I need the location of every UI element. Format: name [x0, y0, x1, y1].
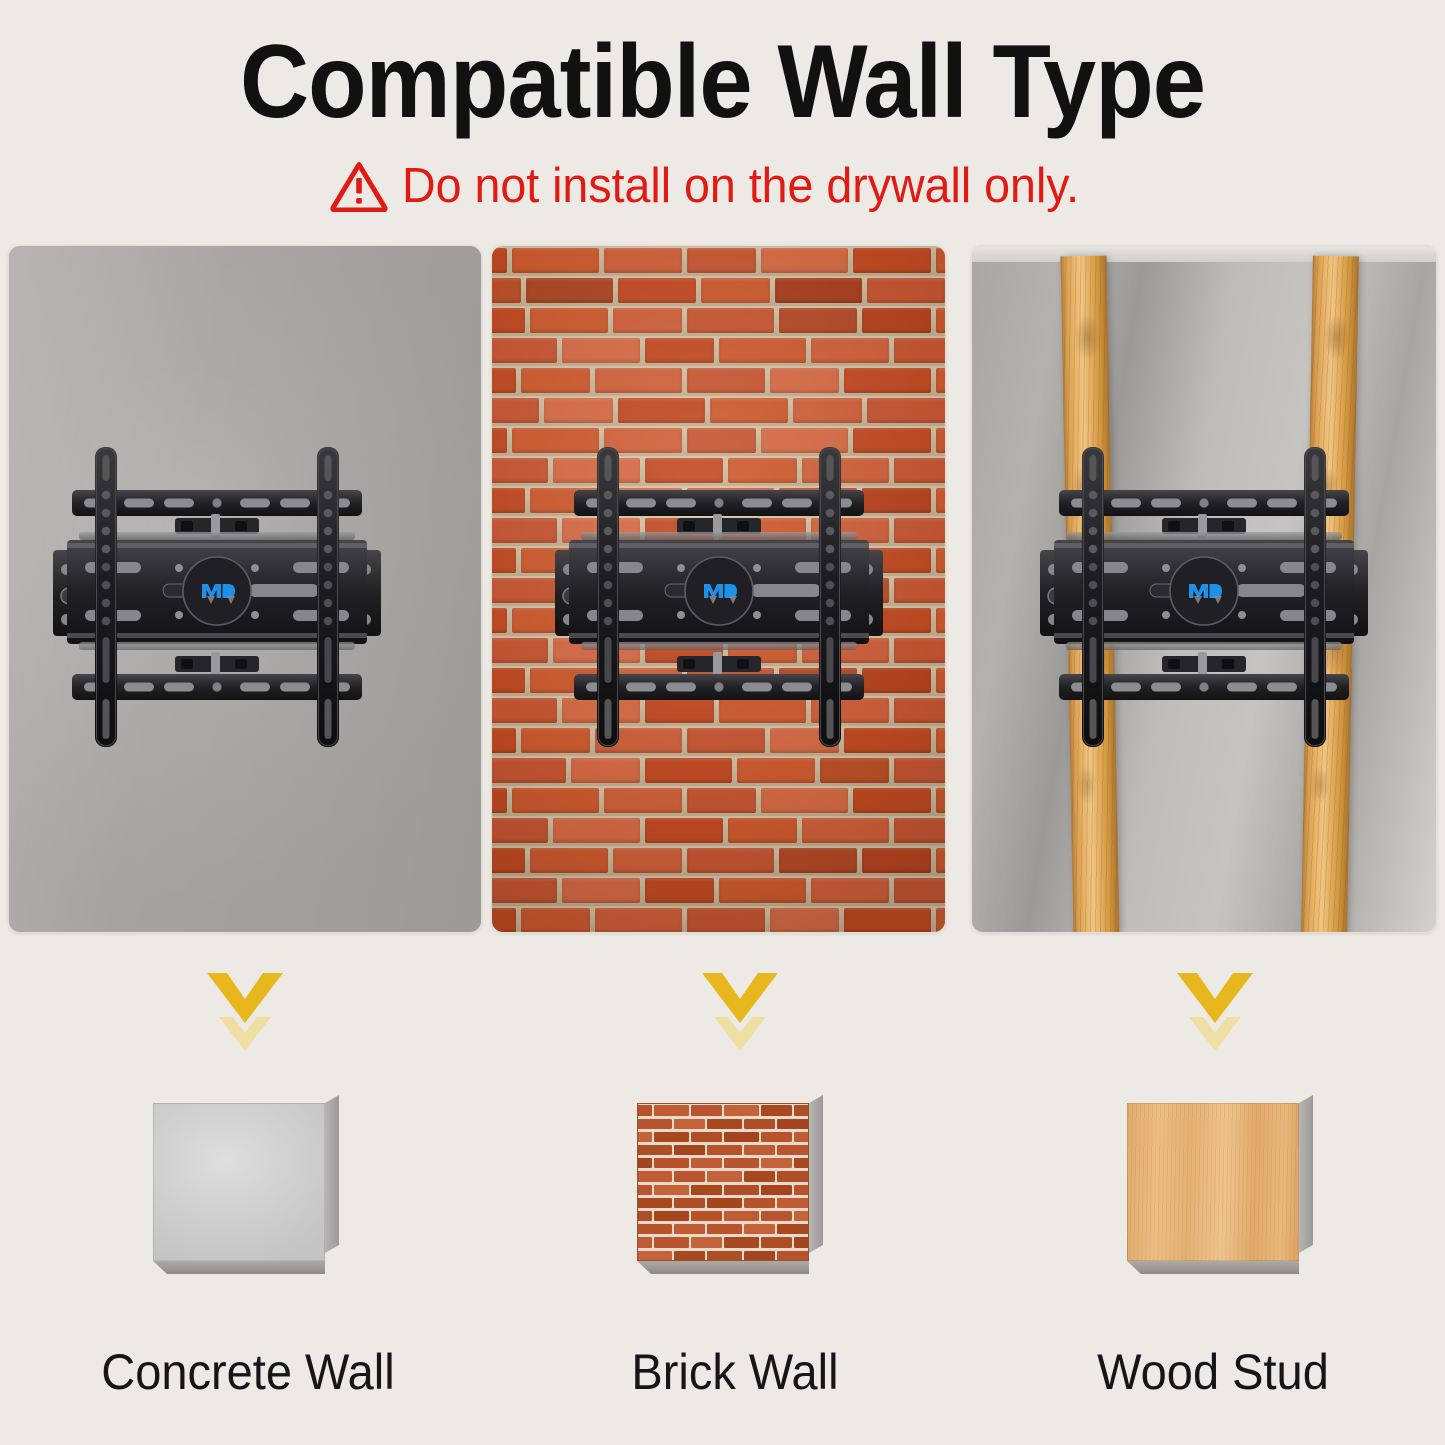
- swatch-cube: [637, 1103, 809, 1261]
- panel-brick-wall: [491, 245, 946, 933]
- label-concrete-wall: Concrete Wall: [51, 1340, 446, 1404]
- header: Compatible Wall Type Do not install on t…: [0, 0, 1445, 232]
- brick-swatch: [637, 1095, 827, 1275]
- page-title: Compatible Wall Type: [58, 26, 1387, 138]
- cube-side: [1299, 1095, 1313, 1253]
- chevron-down-icon: [1155, 955, 1275, 1055]
- tv-mount-bracket-wood: [1046, 442, 1362, 752]
- warning-banner: Do not install on the drywall only.: [0, 155, 1445, 217]
- chevron-group-brick: [680, 955, 800, 1055]
- wall-soffit: [972, 246, 1436, 262]
- label-row: Concrete Wall Brick Wall Wood Stud: [0, 1340, 1445, 1420]
- cube-bottom: [637, 1261, 809, 1274]
- warning-triangle-icon: [330, 160, 388, 212]
- chevron-group-concrete: [185, 955, 305, 1055]
- concrete-face: [153, 1103, 325, 1261]
- swatch-cube: [1127, 1103, 1299, 1261]
- cube-bottom: [1127, 1261, 1299, 1274]
- label-brick-wall: Brick Wall: [538, 1340, 933, 1404]
- panel-wood-stud: [971, 245, 1437, 933]
- brick-face: [637, 1103, 809, 1261]
- wood-swatch: [1127, 1095, 1317, 1275]
- arrow-row: [0, 955, 1445, 1055]
- bracket-graphic: [561, 442, 877, 752]
- tv-mount-bracket-brick: [561, 442, 877, 752]
- material-swatch-row: [0, 1095, 1445, 1280]
- warning-text: Do not install on the drywall only.: [402, 159, 1079, 213]
- swatch-cube: [153, 1103, 325, 1261]
- label-wood-stud: Wood Stud: [1016, 1340, 1411, 1404]
- concrete-swatch: [153, 1095, 343, 1275]
- infographic-root: Compatible Wall Type Do not install on t…: [0, 0, 1445, 1445]
- cube-side: [325, 1095, 339, 1253]
- bracket-graphic: [1046, 442, 1362, 752]
- cube-side: [809, 1095, 823, 1253]
- chevron-down-icon: [680, 955, 800, 1055]
- wall-panel-row: [0, 245, 1445, 935]
- wood-face: [1127, 1103, 1299, 1261]
- chevron-down-icon: [185, 955, 305, 1055]
- bracket-graphic: [59, 442, 375, 752]
- cube-bottom: [153, 1261, 325, 1274]
- tv-mount-bracket-concrete: [59, 442, 375, 752]
- chevron-group-wood: [1155, 955, 1275, 1055]
- panel-concrete-wall: [8, 245, 482, 933]
